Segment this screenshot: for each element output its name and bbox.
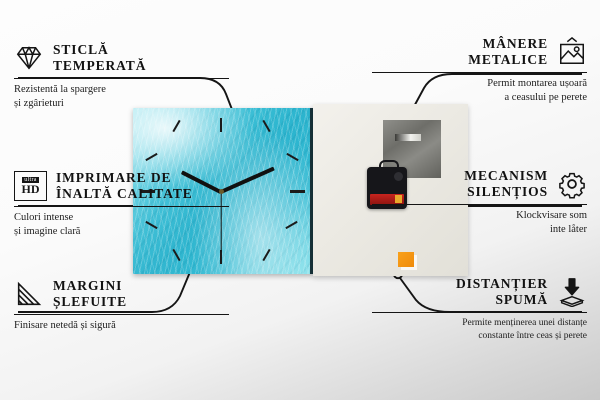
callout-metal-handles: MÂNERE METALICE Permit montarea ușoară a… (372, 36, 587, 105)
callout-divider (14, 78, 229, 80)
callout-divider (372, 204, 587, 206)
callout-foam-spacer: DISTANȚIER SPUMĂ Permite menținerea unei… (372, 276, 587, 342)
ultra-hd-icon: ultra HD (14, 171, 47, 201)
picture-frame-hanger-icon (557, 37, 587, 67)
callout-title: DISTANȚIER SPUMĂ (456, 276, 548, 308)
callout-description: Culori intense și imagine clară (14, 211, 229, 238)
gear-icon (557, 169, 587, 199)
callout-description: Finisare netedă și sigură (14, 319, 229, 333)
infographic-canvas: STICLĂ TEMPERATĂ Rezistentă la spargere … (0, 0, 600, 400)
callout-divider (14, 314, 229, 316)
callout-title: MÂNERE METALICE (468, 36, 548, 68)
callout-description: Rezistentă la spargere și zgârieturi (14, 83, 229, 110)
beveled-edge-icon (14, 279, 44, 309)
callout-description: Klockvisare som inte låter (372, 209, 587, 236)
callout-high-quality-print: ultra HD IMPRIMARE DE ÎNALTĂ CALITATE Cu… (14, 170, 229, 239)
callout-title: STICLĂ TEMPERATĂ (53, 42, 146, 74)
hanger-slot (395, 134, 421, 141)
callout-title: IMPRIMARE DE ÎNALTĂ CALITATE (56, 170, 193, 202)
callout-description: Permite menținerea unei distanțe constan… (372, 317, 587, 342)
callout-polished-edges: MARGINI ȘLEFUITE Finisare netedă și sigu… (14, 278, 229, 333)
ultra-hd-icon-bottom: HD (22, 183, 40, 195)
callout-tempered-glass: STICLĂ TEMPERATĂ Rezistentă la spargere … (14, 42, 229, 111)
foam-spacer-pad (398, 252, 414, 267)
callout-divider (14, 206, 229, 208)
callout-title: MARGINI ȘLEFUITE (53, 278, 127, 310)
diamond-icon (14, 43, 44, 73)
callout-divider (372, 72, 587, 74)
callout-divider (372, 312, 587, 314)
callout-title: MECANISM SILENȚIOS (464, 168, 548, 200)
callout-silent-mechanism: MECANISM SILENȚIOS Klockvisare som inte … (372, 168, 587, 237)
arrow-onto-layers-icon (557, 277, 587, 307)
callout-description: Permit montarea ușoară a ceasului pe per… (372, 77, 587, 104)
